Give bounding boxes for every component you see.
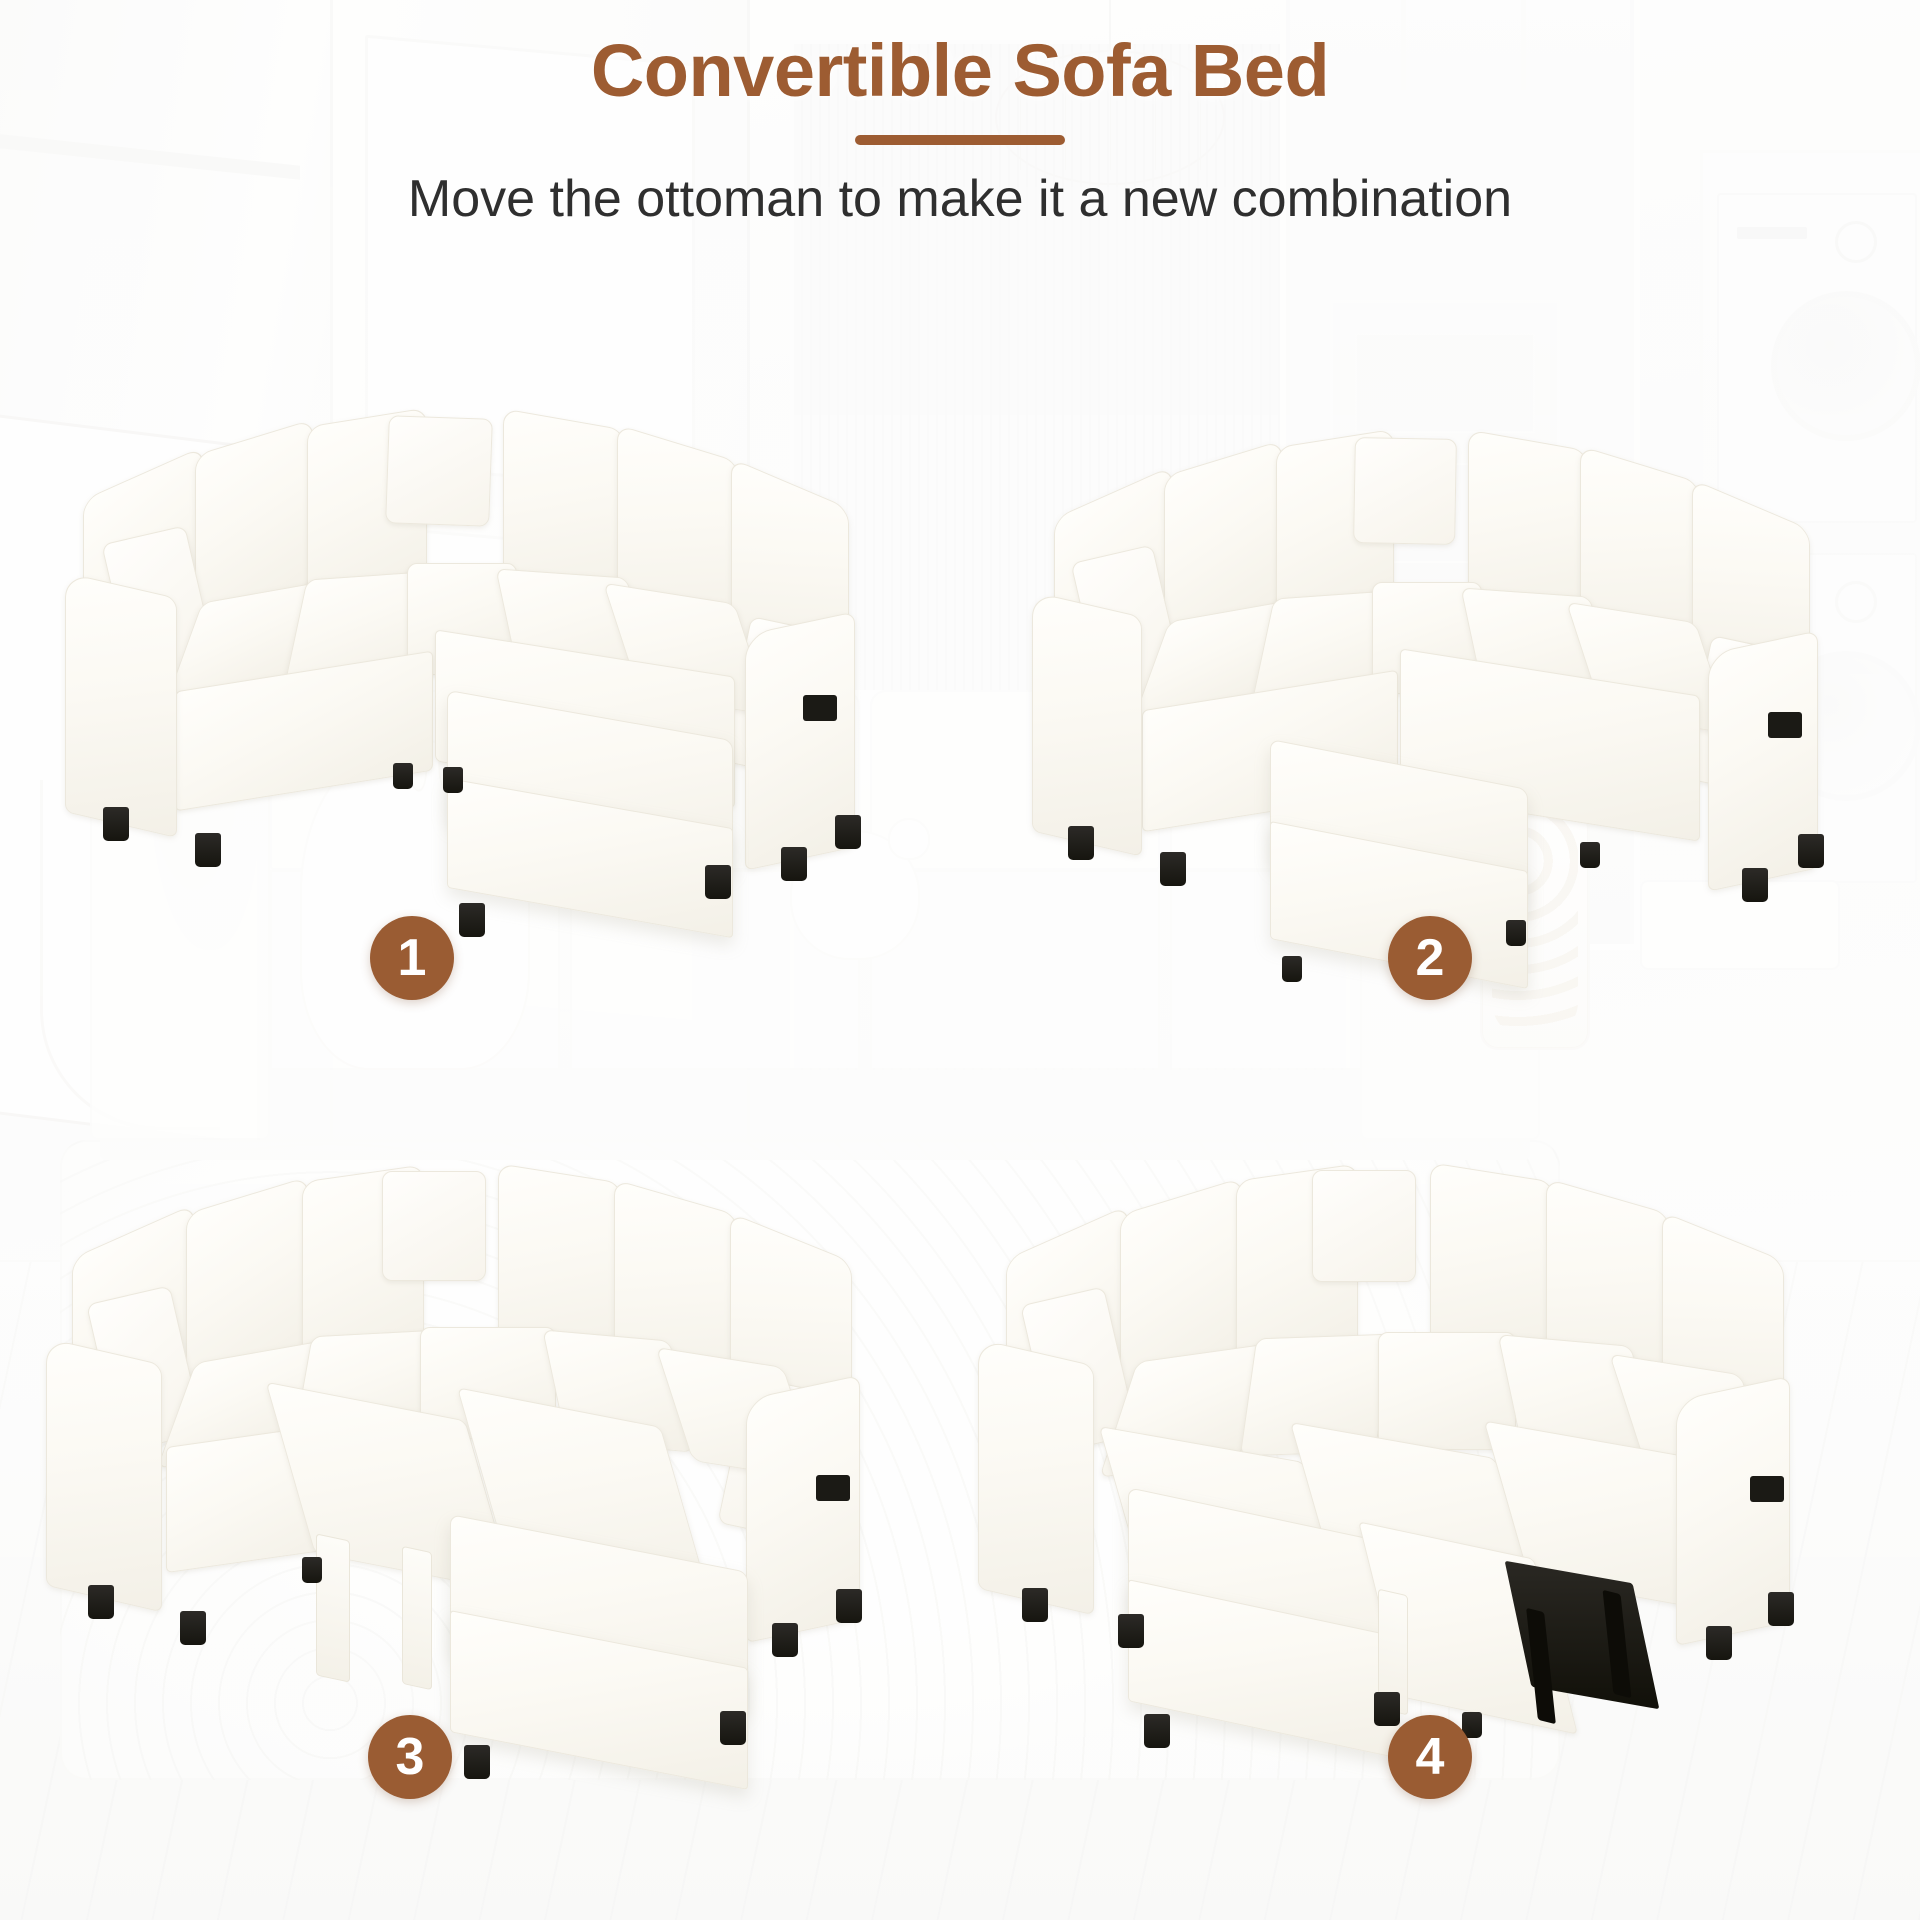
corner-throw-pillow bbox=[382, 1171, 486, 1281]
ottoman-leg bbox=[1282, 956, 1302, 982]
fabric-skirt bbox=[402, 1546, 432, 1690]
title-divider bbox=[855, 135, 1065, 145]
sofa-leg bbox=[1742, 868, 1768, 902]
sofa-leg bbox=[1160, 852, 1186, 886]
arm-left bbox=[978, 1339, 1094, 1616]
sofa-leg bbox=[393, 763, 413, 789]
sofa-leg bbox=[1022, 1588, 1048, 1622]
sofa-leg bbox=[1706, 1626, 1732, 1660]
step-badge-1: 1 bbox=[370, 916, 454, 1000]
header: Convertible Sofa Bed Move the ottoman to… bbox=[0, 28, 1920, 229]
product-tag bbox=[816, 1475, 850, 1501]
arm-left bbox=[1032, 591, 1142, 856]
sofa-leg bbox=[1580, 842, 1600, 868]
sofa-config-2 bbox=[1020, 420, 1850, 890]
step-badge-4: 4 bbox=[1388, 1715, 1472, 1799]
sofa-leg bbox=[195, 833, 221, 867]
arm-left bbox=[46, 1338, 162, 1613]
ottoman-leg bbox=[1506, 920, 1526, 946]
product-tag bbox=[1750, 1476, 1784, 1502]
sofa-leg bbox=[772, 1623, 798, 1657]
product-panel-2 bbox=[1020, 420, 1850, 890]
platform-leg bbox=[302, 1557, 322, 1583]
page-title: Convertible Sofa Bed bbox=[0, 28, 1920, 113]
sofa-config-3 bbox=[30, 1145, 900, 1675]
sofa-leg bbox=[1798, 834, 1824, 868]
ottoman-leg bbox=[1144, 1714, 1170, 1748]
fabric-skirt bbox=[316, 1533, 350, 1682]
step-badge-2: 2 bbox=[1388, 916, 1472, 1000]
product-panel-1 bbox=[55, 395, 885, 875]
ottoman-leg bbox=[1374, 1692, 1400, 1726]
ottoman-leg bbox=[459, 903, 485, 937]
arm-left bbox=[65, 572, 177, 838]
sofa-leg bbox=[88, 1585, 114, 1619]
product-panel-3 bbox=[30, 1145, 900, 1675]
page-subtitle: Move the ottoman to make it a new combin… bbox=[0, 169, 1920, 229]
sofa-leg bbox=[1768, 1592, 1794, 1626]
product-tag bbox=[803, 695, 837, 721]
corner-throw-pillow bbox=[1312, 1170, 1416, 1282]
sofa-config-1 bbox=[55, 395, 885, 875]
ottoman-leg bbox=[705, 865, 731, 899]
sofa-leg bbox=[836, 1589, 862, 1623]
sofa-leg bbox=[835, 815, 861, 849]
ottoman-leg bbox=[720, 1711, 746, 1745]
product-tag bbox=[1768, 712, 1802, 738]
sofa-leg bbox=[103, 807, 129, 841]
sofa-leg bbox=[1068, 826, 1094, 860]
sofa-leg bbox=[180, 1611, 206, 1645]
step-badge-3: 3 bbox=[368, 1715, 452, 1799]
sofa-config-4 bbox=[960, 1140, 1840, 1680]
corner-throw-pillow bbox=[385, 415, 493, 527]
sofa-leg bbox=[443, 767, 463, 793]
product-panel-4 bbox=[960, 1140, 1840, 1680]
corner-throw-pillow bbox=[1353, 437, 1457, 545]
sofa-leg bbox=[1118, 1614, 1144, 1648]
ottoman-leg bbox=[464, 1745, 490, 1779]
sofa-leg bbox=[781, 847, 807, 881]
